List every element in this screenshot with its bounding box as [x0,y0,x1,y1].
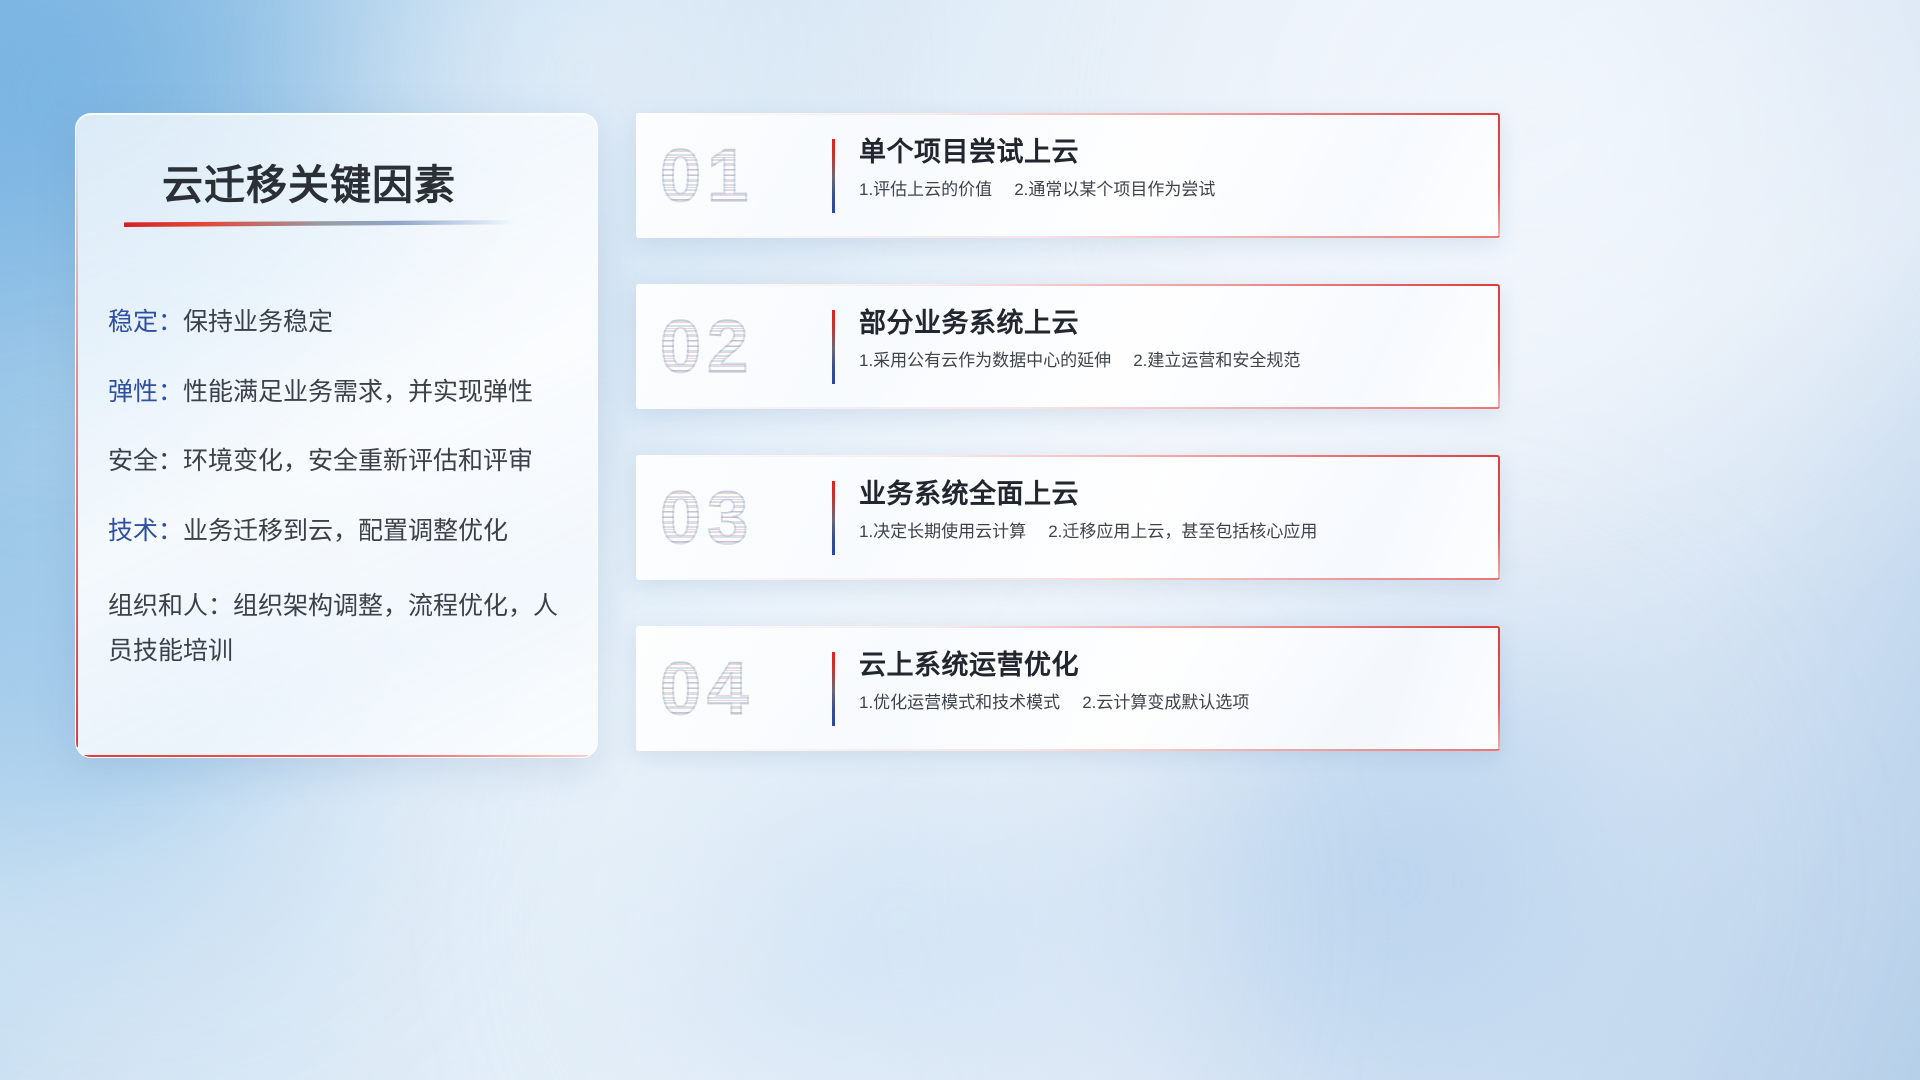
card-top-accent [636,626,1500,628]
stage-card-03[interactable]: 03 03 业务系统全面上云 1.决定长期使用云计算2.迁移应用上云，甚至包括核… [636,455,1500,580]
factor-body: 业务迁移到云，配置调整优化 [183,517,508,545]
card-description-part-2: 2.迁移应用上云，甚至包括核心应用 [1048,522,1317,541]
list-item: 安全：环境变化，安全重新评估和评审 [108,445,577,478]
card-title: 云上系统运营优化 [859,648,1476,683]
card-content: 部分业务系统上云 1.采用公有云作为数据中心的延伸2.建立运营和安全规范 [859,306,1476,372]
stage-number-watermark: 01 [660,139,754,213]
list-item: 弹性：性能满足业务需求，并实现弹性 [108,376,577,409]
card-top-accent [636,113,1500,115]
card-description-part-1: 1.决定长期使用云计算 [859,522,1026,541]
card-top-accent [636,455,1500,457]
stage-card-01[interactable]: 01 01 单个项目尝试上云 1.评估上云的价值2.通常以某个项目作为尝试 [636,113,1500,238]
card-description: 1.采用公有云作为数据中心的延伸2.建立运营和安全规范 [859,349,1476,373]
card-divider-bar [832,652,835,726]
card-description-part-1: 1.采用公有云作为数据中心的延伸 [859,351,1111,370]
stage-number-watermark: 02 [660,310,754,384]
card-divider-bar [832,139,835,213]
card-description: 1.决定长期使用云计算2.迁移应用上云，甚至包括核心应用 [859,520,1476,544]
panel-title: 云迁移关键因素 [162,151,456,211]
card-top-accent [636,284,1500,286]
stage-number-watermark: 04 [660,652,754,726]
card-description-part-2: 2.建立运营和安全规范 [1133,351,1300,370]
factor-body: 性能满足业务需求，并实现弹性 [183,378,533,406]
card-bottom-accent [636,407,1500,409]
card-description-part-2: 2.云计算变成默认选项 [1082,693,1249,712]
factor-body: 保持业务稳定 [183,308,333,336]
list-item: 技术：业务迁移到云，配置调整优化 [108,515,577,548]
key-factors-panel: 云迁移关键因素 稳定：保持业务稳定 弹性：性能满足业务需求，并实现弹性 安全：环… [75,113,598,758]
stage-number-watermark: 03 [660,481,754,555]
card-content: 业务系统全面上云 1.决定长期使用云计算2.迁移应用上云，甚至包括核心应用 [859,477,1476,543]
card-right-accent [1498,626,1500,751]
card-content: 单个项目尝试上云 1.评估上云的价值2.通常以某个项目作为尝试 [859,135,1476,201]
factor-label: 弹性： [108,378,183,406]
card-title: 业务系统全面上云 [859,477,1476,512]
factor-label: 稳定： [108,308,183,336]
factor-label: 技术： [108,517,183,545]
list-item: 稳定：保持业务稳定 [108,306,577,339]
stage-card-02[interactable]: 02 02 部分业务系统上云 1.采用公有云作为数据中心的延伸2.建立运营和安全… [636,284,1500,409]
card-divider-bar [832,310,835,384]
list-item: 组织和人：组织架构调整，流程优化，人员技能培训 [108,584,577,673]
card-bottom-accent [636,749,1500,751]
card-bottom-accent [636,578,1500,580]
card-description-part-2: 2.通常以某个项目作为尝试 [1014,180,1215,199]
card-bottom-accent [636,236,1500,238]
factor-label: 组织和人： [108,592,233,620]
title-underline-accent [124,220,514,227]
card-divider-bar [832,481,835,555]
card-description: 1.优化运营模式和技术模式2.云计算变成默认选项 [859,691,1476,715]
factor-body: 环境变化，安全重新评估和评审 [183,447,533,475]
card-content: 云上系统运营优化 1.优化运营模式和技术模式2.云计算变成默认选项 [859,648,1476,714]
card-title: 单个项目尝试上云 [859,135,1476,170]
factor-label: 安全： [108,447,183,475]
stage-card-04[interactable]: 04 04 云上系统运营优化 1.优化运营模式和技术模式2.云计算变成默认选项 [636,626,1500,751]
card-right-accent [1498,113,1500,238]
card-description: 1.评估上云的价值2.通常以某个项目作为尝试 [859,178,1476,202]
key-factors-list: 稳定：保持业务稳定 弹性：性能满足业务需求，并实现弹性 安全：环境变化，安全重新… [108,306,577,710]
card-title: 部分业务系统上云 [859,306,1476,341]
card-right-accent [1498,284,1500,409]
card-description-part-1: 1.评估上云的价值 [859,180,992,199]
stage-card-list: 01 01 单个项目尝试上云 1.评估上云的价值2.通常以某个项目作为尝试 02… [636,113,1500,797]
card-right-accent [1498,455,1500,580]
card-description-part-1: 1.优化运营模式和技术模式 [859,693,1060,712]
